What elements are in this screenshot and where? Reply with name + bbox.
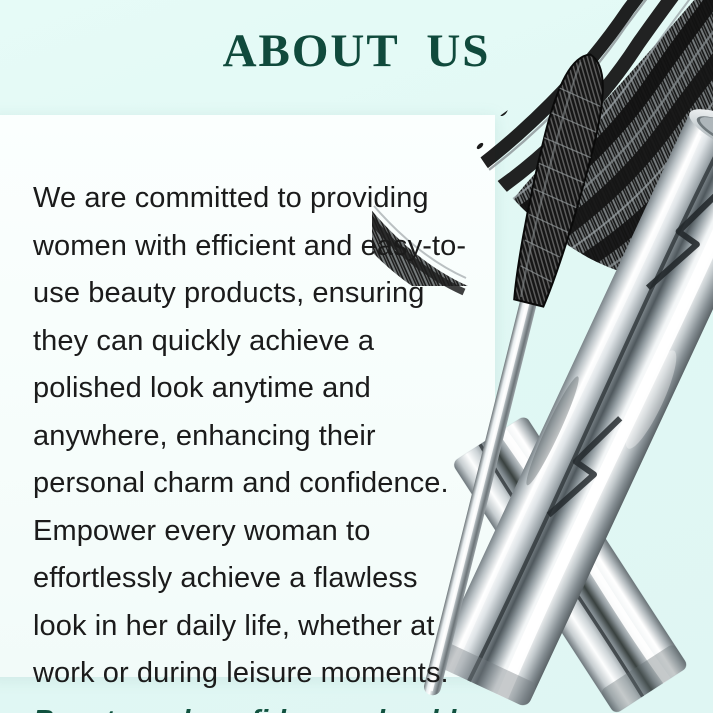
about-us-poster: ABOUT US We are committed to providing w…	[0, 0, 713, 713]
about-paragraph-emphasis: Beauty and confidence should never be co…	[33, 705, 456, 713]
about-paragraph-plain: We are committed to providing women with…	[33, 182, 466, 689]
about-paragraph: We are committed to providing women with…	[33, 175, 469, 713]
page-title: ABOUT US	[0, 24, 713, 78]
